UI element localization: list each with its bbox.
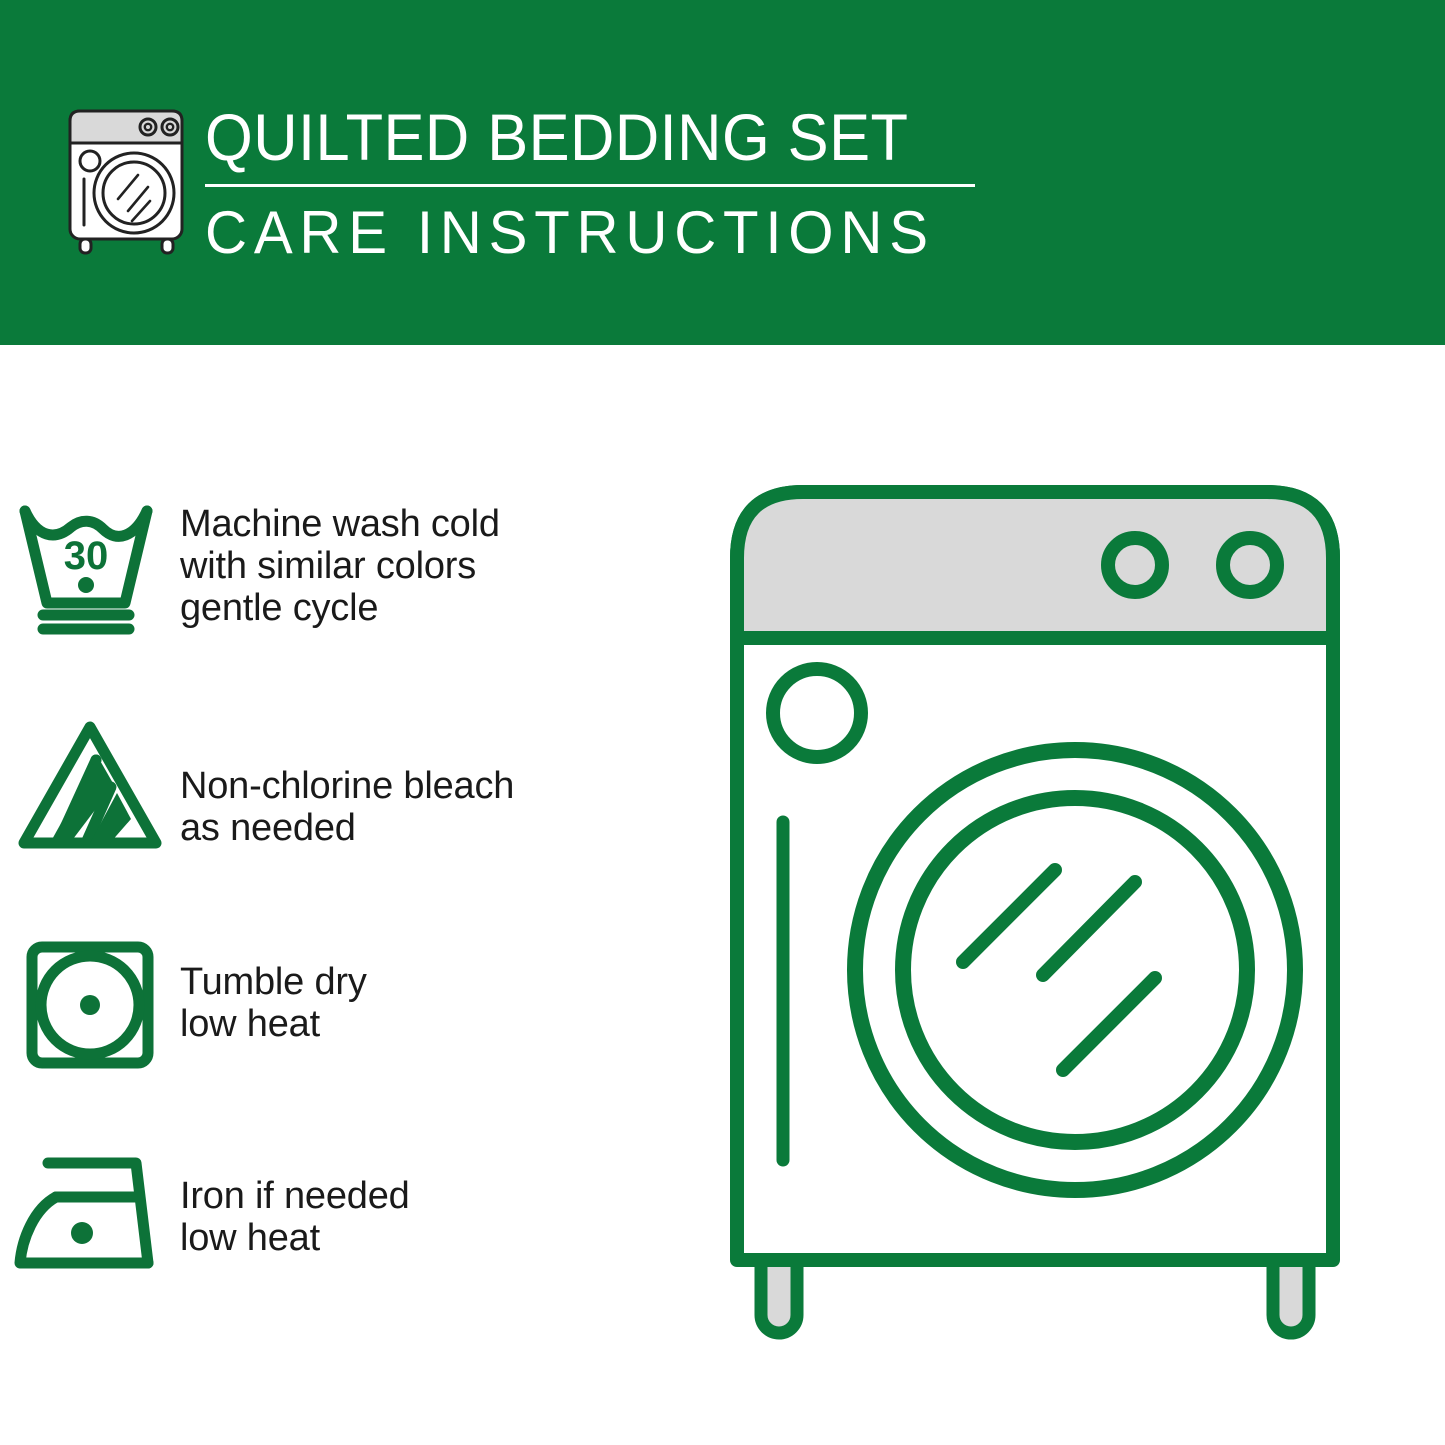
- care-instruction-list: 30 Machine wash cold with similar colors…: [0, 345, 700, 1445]
- iron-icon: [0, 1145, 180, 1277]
- care-label-bleach: Non-chlorine bleach as needed: [180, 713, 514, 849]
- header-text-block: QUILTED BEDDING SET CARE INSTRUCTIONS: [205, 100, 995, 267]
- washing-machine-logo-icon: [62, 103, 194, 255]
- care-instructions-infographic: QUILTED BEDDING SET CARE INSTRUCTIONS: [0, 0, 1445, 1445]
- care-row-tumble-dry: Tumble dry low heat: [0, 933, 700, 1075]
- header-band: QUILTED BEDDING SET CARE INSTRUCTIONS: [0, 0, 1445, 345]
- care-label-tumble-dry: Tumble dry low heat: [180, 933, 367, 1045]
- care-row-bleach: Non-chlorine bleach as needed: [0, 713, 700, 855]
- title-divider: [205, 184, 975, 187]
- care-label-machine-wash: Machine wash cold with similar colors ge…: [180, 495, 500, 629]
- control-panel: [737, 492, 1333, 638]
- washing-machine-illustration: [715, 470, 1355, 1370]
- care-row-iron: Iron if needed low heat: [0, 1145, 700, 1277]
- page-title: QUILTED BEDDING SET: [205, 100, 940, 174]
- care-row-machine-wash: 30 Machine wash cold with similar colors…: [0, 495, 700, 637]
- machine-legs: [761, 1260, 1309, 1333]
- page-subtitle: CARE INSTRUCTIONS: [205, 199, 971, 267]
- svg-text:30: 30: [64, 534, 109, 578]
- care-label-iron: Iron if needed low heat: [180, 1145, 410, 1259]
- tumble-dry-icon: [0, 933, 180, 1075]
- wash-tub-30-icon: 30: [0, 495, 180, 637]
- bleach-triangle-icon: [0, 713, 180, 855]
